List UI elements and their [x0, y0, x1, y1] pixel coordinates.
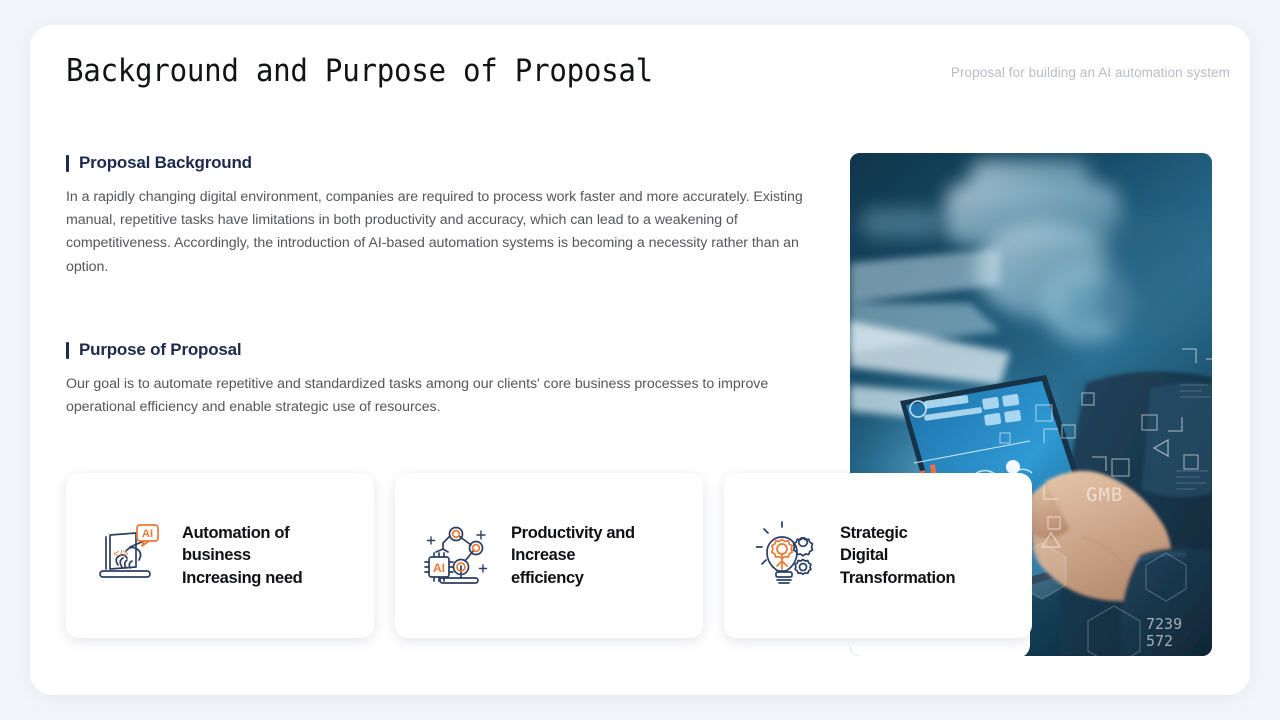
- slide-subtitle: Proposal for building an AI automation s…: [951, 65, 1230, 80]
- hud-number-bottom: 572: [1146, 632, 1173, 650]
- slide-canvas: Background and Purpose of Proposal Propo…: [30, 25, 1250, 695]
- feature-card-transformation[interactable]: Strategic Digital Transformation: [724, 473, 1032, 638]
- heading-bar-icon: [66, 155, 69, 172]
- section-heading-proposal-background: Proposal Background: [66, 153, 836, 173]
- feature-card-label: Productivity and Increase efficiency: [511, 522, 635, 590]
- robot-arm-ai-chip-icon: AI: [421, 519, 495, 593]
- feature-card-automation[interactable]: AI </> Automation of business Increasing…: [66, 473, 374, 638]
- feature-card-label: Strategic Digital Transformation: [840, 522, 955, 590]
- ai-chip-text: AI: [433, 561, 445, 575]
- ai-badge-text: AI: [142, 528, 153, 540]
- section-purpose-of-proposal: Purpose of Proposal Our goal is to autom…: [66, 340, 836, 419]
- section-proposal-background: Proposal Background In a rapidly changin…: [66, 153, 836, 279]
- feature-card-label: Automation of business Increasing need: [182, 522, 302, 590]
- page-title: Background and Purpose of Proposal: [66, 53, 653, 89]
- feature-card-row: AI </> Automation of business Increasing…: [66, 473, 1066, 638]
- feature-card-productivity[interactable]: AI Productivity and Increase efficiency: [395, 473, 703, 638]
- heading-bar-icon: [66, 342, 69, 359]
- section-heading-label: Proposal Background: [79, 153, 252, 173]
- code-glyph-text: </>: [113, 548, 128, 560]
- section-body-proposal-background: In a rapidly changing digital environmen…: [66, 186, 836, 279]
- hud-number-top: 7239: [1146, 615, 1182, 633]
- laptop-code-ai-hand-icon: AI </>: [92, 519, 166, 593]
- section-body-purpose-of-proposal: Our goal is to automate repetitive and s…: [66, 373, 836, 419]
- hud-label-gmb: GMB: [1086, 484, 1123, 506]
- section-heading-purpose-of-proposal: Purpose of Proposal: [66, 340, 836, 360]
- section-heading-label: Purpose of Proposal: [79, 340, 241, 360]
- lightbulb-gears-icon: [750, 519, 824, 593]
